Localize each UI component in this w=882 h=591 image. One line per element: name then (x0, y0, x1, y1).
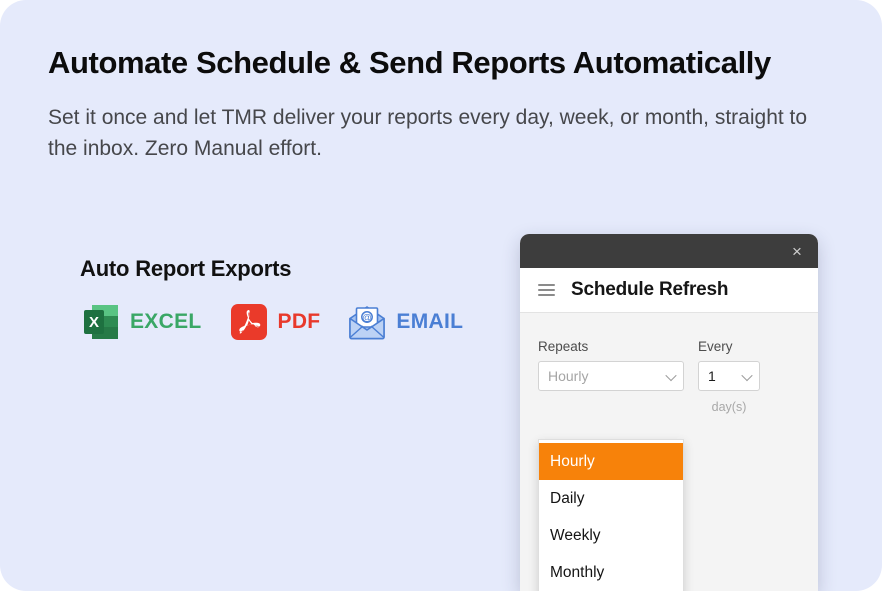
every-label: Every (698, 339, 760, 361)
email-icon: @ (346, 301, 388, 343)
page-card: Automate Schedule & Send Reports Automat… (0, 0, 882, 591)
export-label-email: EMAIL (396, 310, 463, 334)
dialog-titlebar: × (520, 234, 818, 268)
close-icon[interactable]: × (786, 240, 808, 262)
exports-title: Auto Report Exports (80, 256, 463, 282)
svg-text:X: X (89, 314, 99, 331)
export-label-pdf: PDF (278, 310, 321, 334)
every-field-group: Every 1 day(s) (698, 339, 760, 414)
every-select[interactable]: 1 (698, 361, 760, 391)
repeats-field-group: Repeats Hourly (538, 339, 684, 391)
dropdown-option-weekly[interactable]: Weekly (539, 517, 683, 554)
page-subtitle: Set it once and let TMR deliver your rep… (48, 81, 838, 164)
hero-section: Automate Schedule & Send Reports Automat… (48, 44, 848, 164)
schedule-refresh-dialog: × Schedule Refresh Repeats Hourly Every (520, 234, 818, 591)
every-unit-label: day(s) (698, 391, 760, 414)
chevron-down-icon (667, 373, 676, 379)
repeats-dropdown-list[interactable]: Hourly Daily Weekly Monthly (538, 439, 684, 591)
export-item-email[interactable]: @ EMAIL (346, 301, 463, 343)
dropdown-option-hourly[interactable]: Hourly (539, 443, 683, 480)
dropdown-option-monthly[interactable]: Monthly (539, 554, 683, 591)
exports-icon-row: X EXCEL PDF (80, 282, 463, 343)
export-item-pdf[interactable]: PDF (228, 301, 321, 343)
page-title: Automate Schedule & Send Reports Automat… (48, 44, 848, 81)
dialog-title: Schedule Refresh (571, 279, 728, 301)
pdf-icon (228, 301, 270, 343)
repeats-label: Repeats (538, 339, 684, 361)
dropdown-option-daily[interactable]: Daily (539, 480, 683, 517)
excel-icon: X (80, 301, 122, 343)
svg-text:@: @ (363, 313, 373, 324)
export-label-excel: EXCEL (130, 310, 202, 334)
chevron-down-icon (743, 373, 752, 379)
repeats-select-value: Hourly (548, 368, 588, 384)
dialog-header: Schedule Refresh (520, 268, 818, 313)
hamburger-icon[interactable] (538, 284, 555, 296)
repeats-select[interactable]: Hourly (538, 361, 684, 391)
every-select-value: 1 (708, 368, 716, 384)
schedule-fields-row: Repeats Hourly Every 1 day(s) (538, 339, 800, 414)
export-item-excel[interactable]: X EXCEL (80, 301, 202, 343)
dialog-body: Repeats Hourly Every 1 day(s) Hour (520, 313, 818, 591)
auto-report-exports-section: Auto Report Exports X EXCEL (80, 256, 463, 343)
